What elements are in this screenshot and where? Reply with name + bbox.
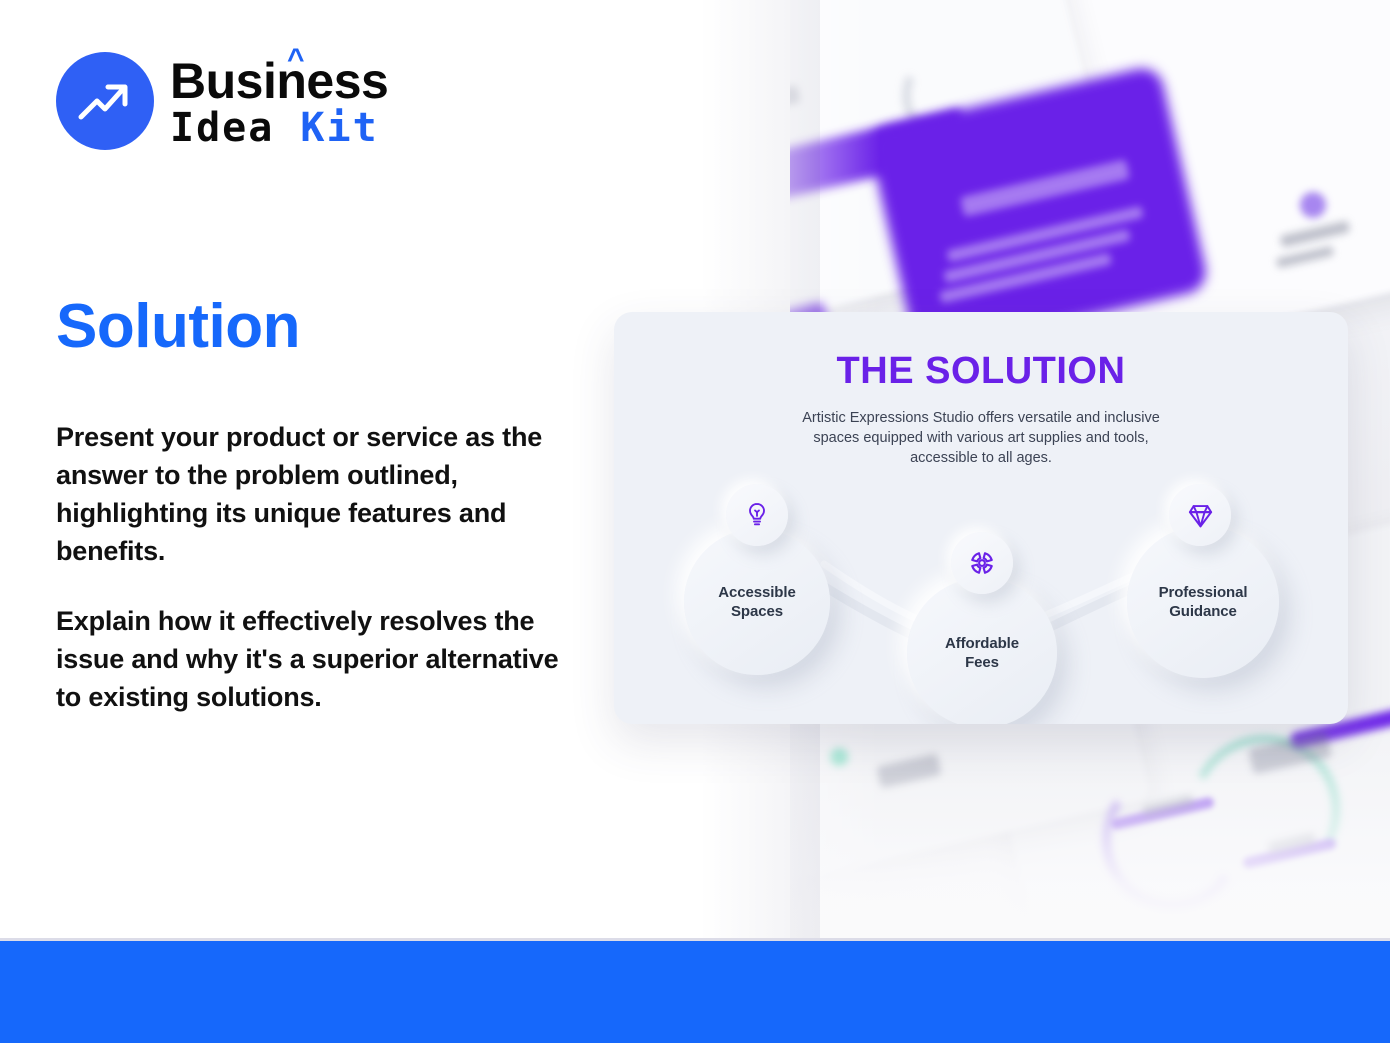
brand-logo: Business ^ Idea Kit: [56, 52, 388, 150]
left-body-text: Present your product or service as the a…: [56, 418, 586, 716]
node-label-line2: Spaces: [718, 602, 795, 621]
body-paragraph-2: Explain how it effectively resolves the …: [56, 602, 586, 716]
slide-root: Business ^ Idea Kit Solution Present you…: [0, 0, 1390, 1043]
node-label: Affordable Fees: [945, 634, 1019, 672]
solution-node-professional-guidance[interactable]: Professional Guidance: [1127, 526, 1279, 678]
page-title: Solution: [56, 296, 300, 358]
node-label-line1: Professional: [1159, 583, 1248, 602]
diamond-icon: [1169, 484, 1231, 546]
footer-bar: [0, 941, 1390, 1043]
brand-name-line1-text: Business: [170, 53, 388, 109]
bg-fade-bottom: [790, 711, 1390, 941]
brand-name-line1: Business ^: [170, 56, 388, 106]
body-paragraph-1: Present your product or service as the a…: [56, 418, 586, 570]
brand-name-line2: Idea Kit: [170, 108, 388, 148]
bg-dot: [1300, 192, 1326, 218]
brand-wordmark: Business ^ Idea Kit: [170, 54, 388, 148]
node-label-line2: Fees: [945, 653, 1019, 672]
node-label-line1: Affordable: [945, 634, 1019, 653]
circumflex-icon: ^: [287, 45, 304, 75]
brand-name-kit: Kit: [300, 105, 378, 151]
node-label: Accessible Spaces: [718, 583, 795, 621]
solution-node-affordable-fees[interactable]: Affordable Fees: [907, 578, 1057, 724]
solution-node-accessible-spaces[interactable]: Accessible Spaces: [684, 529, 830, 675]
lifebuoy-icon: [951, 532, 1013, 594]
node-label-line2: Guidance: [1159, 602, 1248, 621]
brand-name-idea: Idea: [170, 105, 300, 151]
solution-card: THE SOLUTION Artistic Expressions Studio…: [614, 312, 1348, 724]
lightbulb-icon: [726, 484, 788, 546]
node-label-line1: Accessible: [718, 583, 795, 602]
growth-arrow-icon: [56, 52, 154, 150]
node-label: Professional Guidance: [1159, 583, 1248, 621]
